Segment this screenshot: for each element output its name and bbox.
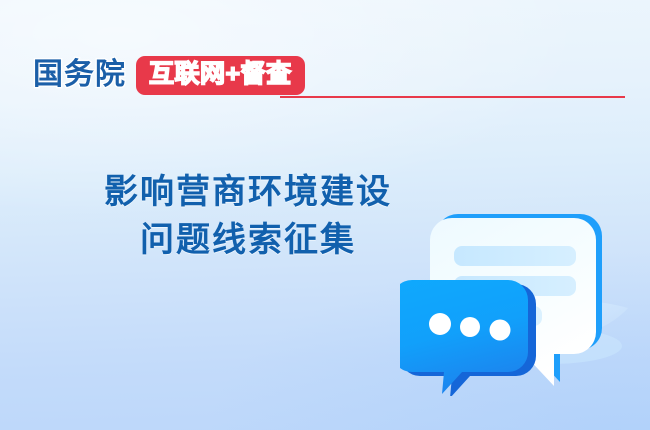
header-divider-rule — [280, 96, 625, 98]
typing-dot-1 — [429, 313, 451, 335]
chat-bubbles-illustration — [400, 196, 640, 396]
typing-dot-2 — [460, 317, 480, 337]
typing-dot-3 — [490, 320, 511, 341]
internet-plus-supervision-badge: 互联网+督查 — [136, 56, 305, 95]
banner-header: 国务院 互联网+督查 — [33, 52, 305, 98]
campaign-banner: 国务院 互联网+督查 影响营商环境建设 问题线索征集 — [0, 0, 650, 430]
title-line-2: 问题线索征集 — [88, 216, 408, 264]
bubble-text-bar-1 — [454, 246, 576, 266]
banner-title: 影响营商环境建设 问题线索征集 — [88, 168, 408, 264]
blue-chat-bubble — [400, 280, 536, 396]
title-line-1: 影响营商环境建设 — [88, 168, 408, 216]
government-council-label: 国务院 — [33, 60, 126, 90]
